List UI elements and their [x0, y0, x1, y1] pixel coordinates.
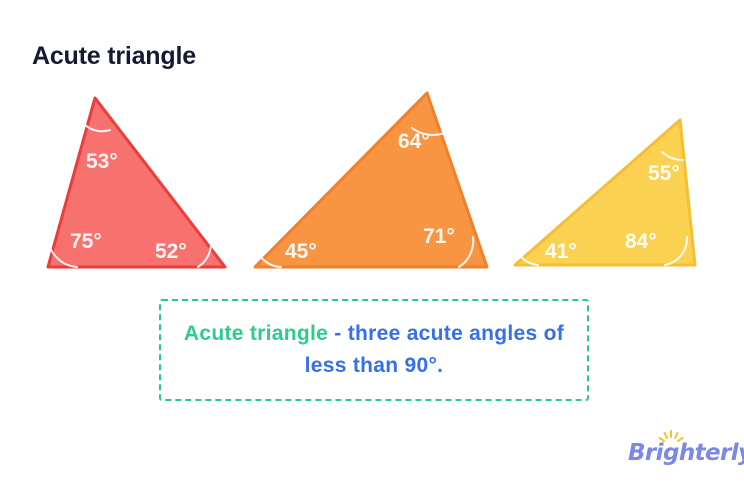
- angle-label: 52°: [155, 240, 187, 263]
- logo-wordmark: Brighterly: [628, 440, 744, 466]
- definition-callout-box: Acute triangle - three acute angles of l…: [159, 299, 589, 401]
- angle-label: 75°: [70, 230, 102, 253]
- slide-canvas: Acute triangle 53°75°52° 64°45°71° 55°41…: [0, 0, 744, 496]
- brighterly-logo: Brighterly: [628, 432, 724, 472]
- yellow-triangle: 55°41°84°: [515, 120, 695, 265]
- triangle-figures-group: 53°75°52° 64°45°71° 55°41°84°: [0, 0, 744, 290]
- red-triangle: 53°75°52°: [48, 98, 225, 267]
- angle-label: 53°: [86, 150, 118, 173]
- definition-description: - three acute angles of less than 90°.: [305, 322, 564, 377]
- angle-label: 64°: [398, 130, 430, 153]
- angle-label: 55°: [648, 162, 680, 185]
- angle-label: 41°: [545, 240, 577, 263]
- triangles-svg: 53°75°52° 64°45°71° 55°41°84°: [0, 0, 744, 290]
- angle-label: 45°: [285, 240, 317, 263]
- orange-triangle: 64°45°71°: [255, 93, 487, 267]
- angle-label: 71°: [423, 225, 455, 248]
- definition-text: Acute triangle - three acute angles of l…: [161, 318, 587, 382]
- triangle-shape: [515, 120, 695, 265]
- definition-term: Acute triangle: [184, 322, 328, 345]
- angle-label: 84°: [625, 230, 657, 253]
